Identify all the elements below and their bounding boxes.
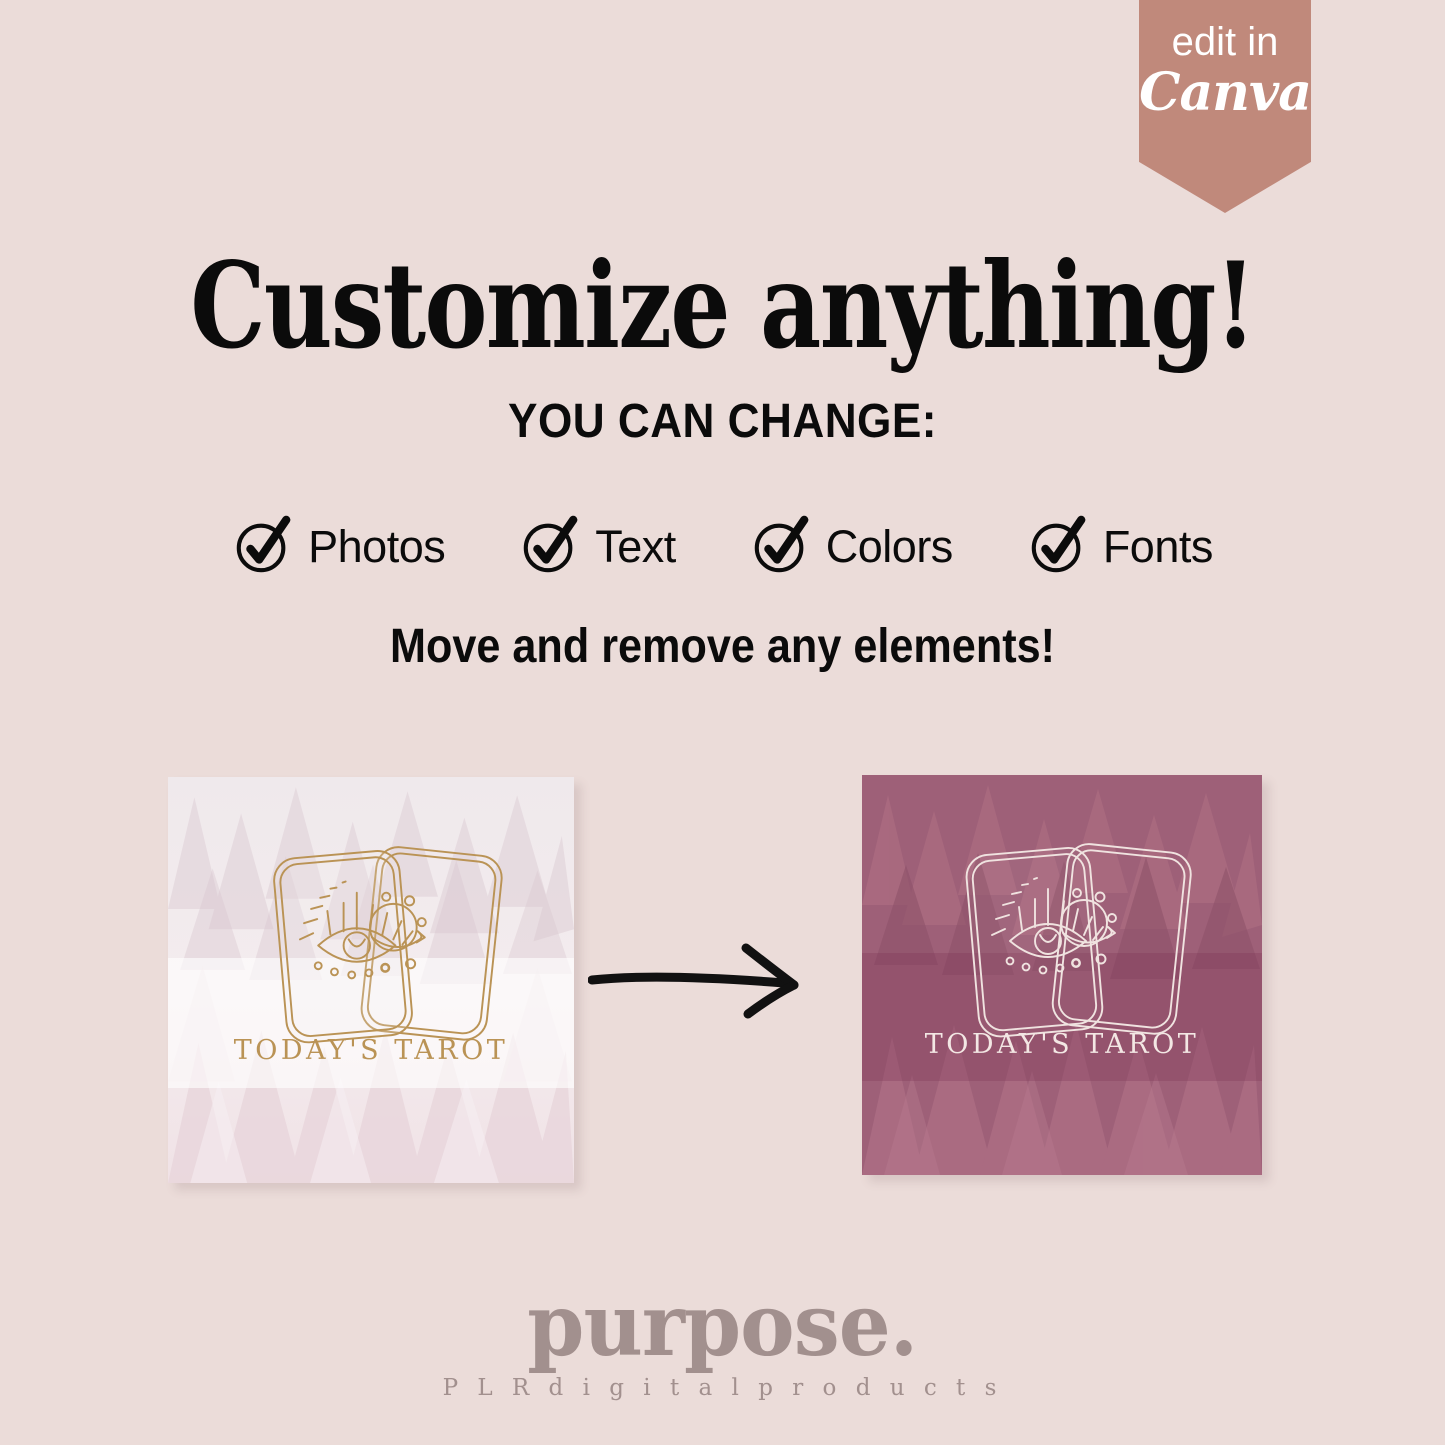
brand-logo: purpose. P L R d i g i t a l p r o d u c…: [0, 1283, 1445, 1400]
feature-item-photos: Photos: [232, 515, 445, 577]
tarot-line-art: [168, 777, 574, 1183]
preview-caption: TODAY'S TAROT: [862, 1029, 1262, 1060]
brand-tagline: P L R d i g i t a l p r o d u c t s: [0, 1377, 1445, 1400]
check-circle-icon: [519, 515, 581, 577]
feature-item-fonts: Fonts: [1027, 515, 1213, 577]
tarot-preview-after[interactable]: TODAY'S TAROT: [862, 775, 1262, 1175]
edit-in-canva-ribbon[interactable]: edit in Canva: [1139, 0, 1311, 213]
move-remove-note: Move and remove any elements!: [72, 623, 1373, 671]
feature-label: Colors: [826, 524, 953, 569]
right-arrow-icon: [588, 940, 816, 1020]
tarot-preview-before[interactable]: TODAY'S TAROT: [168, 777, 574, 1183]
preview-caption: TODAY'S TAROT: [168, 1035, 574, 1066]
feature-label: Text: [595, 524, 676, 569]
page-title: Customize anything!: [145, 247, 1301, 365]
feature-item-text: Text: [519, 515, 676, 577]
tarot-line-art: [862, 775, 1262, 1175]
brand-name: purpose.: [527, 1283, 917, 1369]
check-circle-icon: [232, 515, 294, 577]
page-subtitle: YOU CAN CHANGE:: [58, 398, 1387, 446]
ribbon-line-edit-in: edit in: [1172, 22, 1279, 62]
poster-canvas: edit in Canva Customize anything! YOU CA…: [0, 0, 1445, 1445]
feature-label: Fonts: [1103, 524, 1213, 569]
feature-item-colors: Colors: [750, 515, 953, 577]
ribbon-line-canva: Canva: [1139, 66, 1311, 121]
feature-list: Photos Text Colors Fonts: [0, 515, 1445, 577]
check-circle-icon: [750, 515, 812, 577]
feature-label: Photos: [308, 524, 445, 569]
check-circle-icon: [1027, 515, 1089, 577]
